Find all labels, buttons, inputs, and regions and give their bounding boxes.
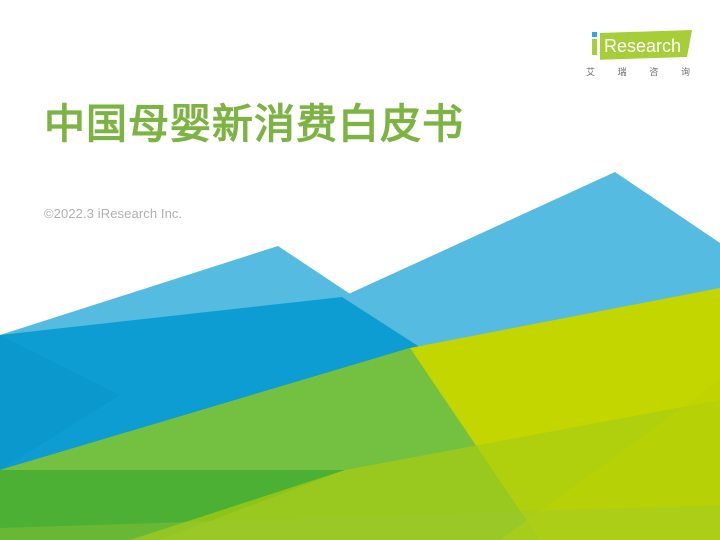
- background-artwork: [0, 0, 720, 540]
- logo-chinese-name: 艾 瑞 咨 询: [586, 65, 690, 78]
- logo-cn-char-3: 咨: [649, 65, 658, 78]
- iresearch-logo: Research 艾 瑞 咨 询: [580, 30, 692, 78]
- logo-i-dot-icon: [592, 32, 597, 37]
- logo-cn-char-1: 艾: [586, 65, 595, 78]
- logo-mark: Research: [580, 30, 692, 60]
- logo-i-stem-icon: [592, 39, 597, 55]
- logo-cn-char-4: 询: [681, 65, 690, 78]
- logo-research-text: Research: [604, 36, 681, 56]
- copyright-text: ©2022.3 iResearch Inc.: [44, 206, 182, 221]
- logo-wordmark-icon: Research: [580, 30, 692, 60]
- slide-cover: Research 艾 瑞 咨 询 中国母婴新消费白皮书 ©2022.3 iRes…: [0, 0, 720, 540]
- logo-cn-char-2: 瑞: [618, 65, 627, 78]
- page-title: 中国母婴新消费白皮书: [44, 101, 464, 148]
